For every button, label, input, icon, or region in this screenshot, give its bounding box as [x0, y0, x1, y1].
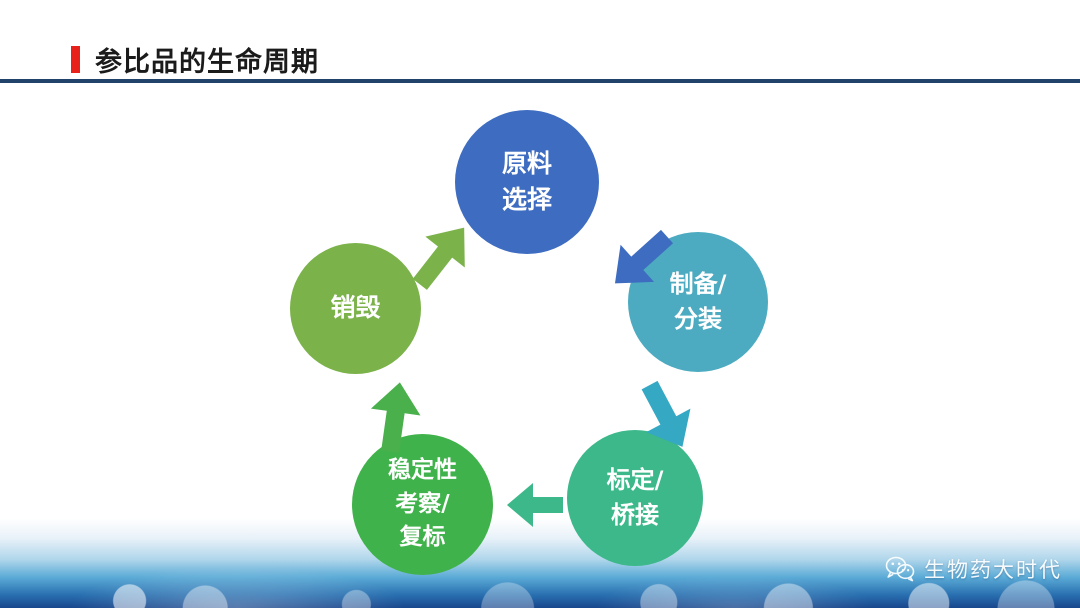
cycle-node-calibration-line1: 标定/ — [607, 463, 664, 498]
watermark: 生物药大时代 — [885, 554, 1062, 584]
arrow-left-icon — [497, 465, 577, 545]
arrow-down-right-icon — [596, 215, 686, 305]
arrow-up-right-icon — [396, 210, 488, 302]
arrow-up-icon — [350, 372, 440, 462]
arrow-down-left-icon — [621, 371, 711, 461]
cycle-node-stability-line2: 考察/ — [395, 488, 449, 521]
title-accent-bar — [71, 46, 80, 73]
wechat-icon — [885, 556, 915, 582]
cycle-node-preparation-line2: 分装 — [674, 302, 722, 337]
cycle-node-raw-material-line2: 选择 — [502, 182, 552, 218]
cycle-node-stability-line3: 复标 — [400, 521, 446, 554]
page-title: 参比品的生命周期 — [95, 40, 319, 79]
header-divider — [0, 79, 1080, 83]
slide-canvas: 参比品的生命周期 原料 选择 制备/ 分装 标定/ 桥接 稳定性 考察/ 复标 … — [0, 0, 1080, 608]
watermark-text: 生物药大时代 — [924, 554, 1062, 584]
cycle-node-calibration-line2: 桥接 — [611, 498, 659, 533]
cycle-node-raw-material-line1: 原料 — [502, 146, 552, 182]
cycle-node-destruction-line1: 销毁 — [330, 290, 380, 326]
slide-header: 参比品的生命周期 — [0, 38, 1080, 82]
